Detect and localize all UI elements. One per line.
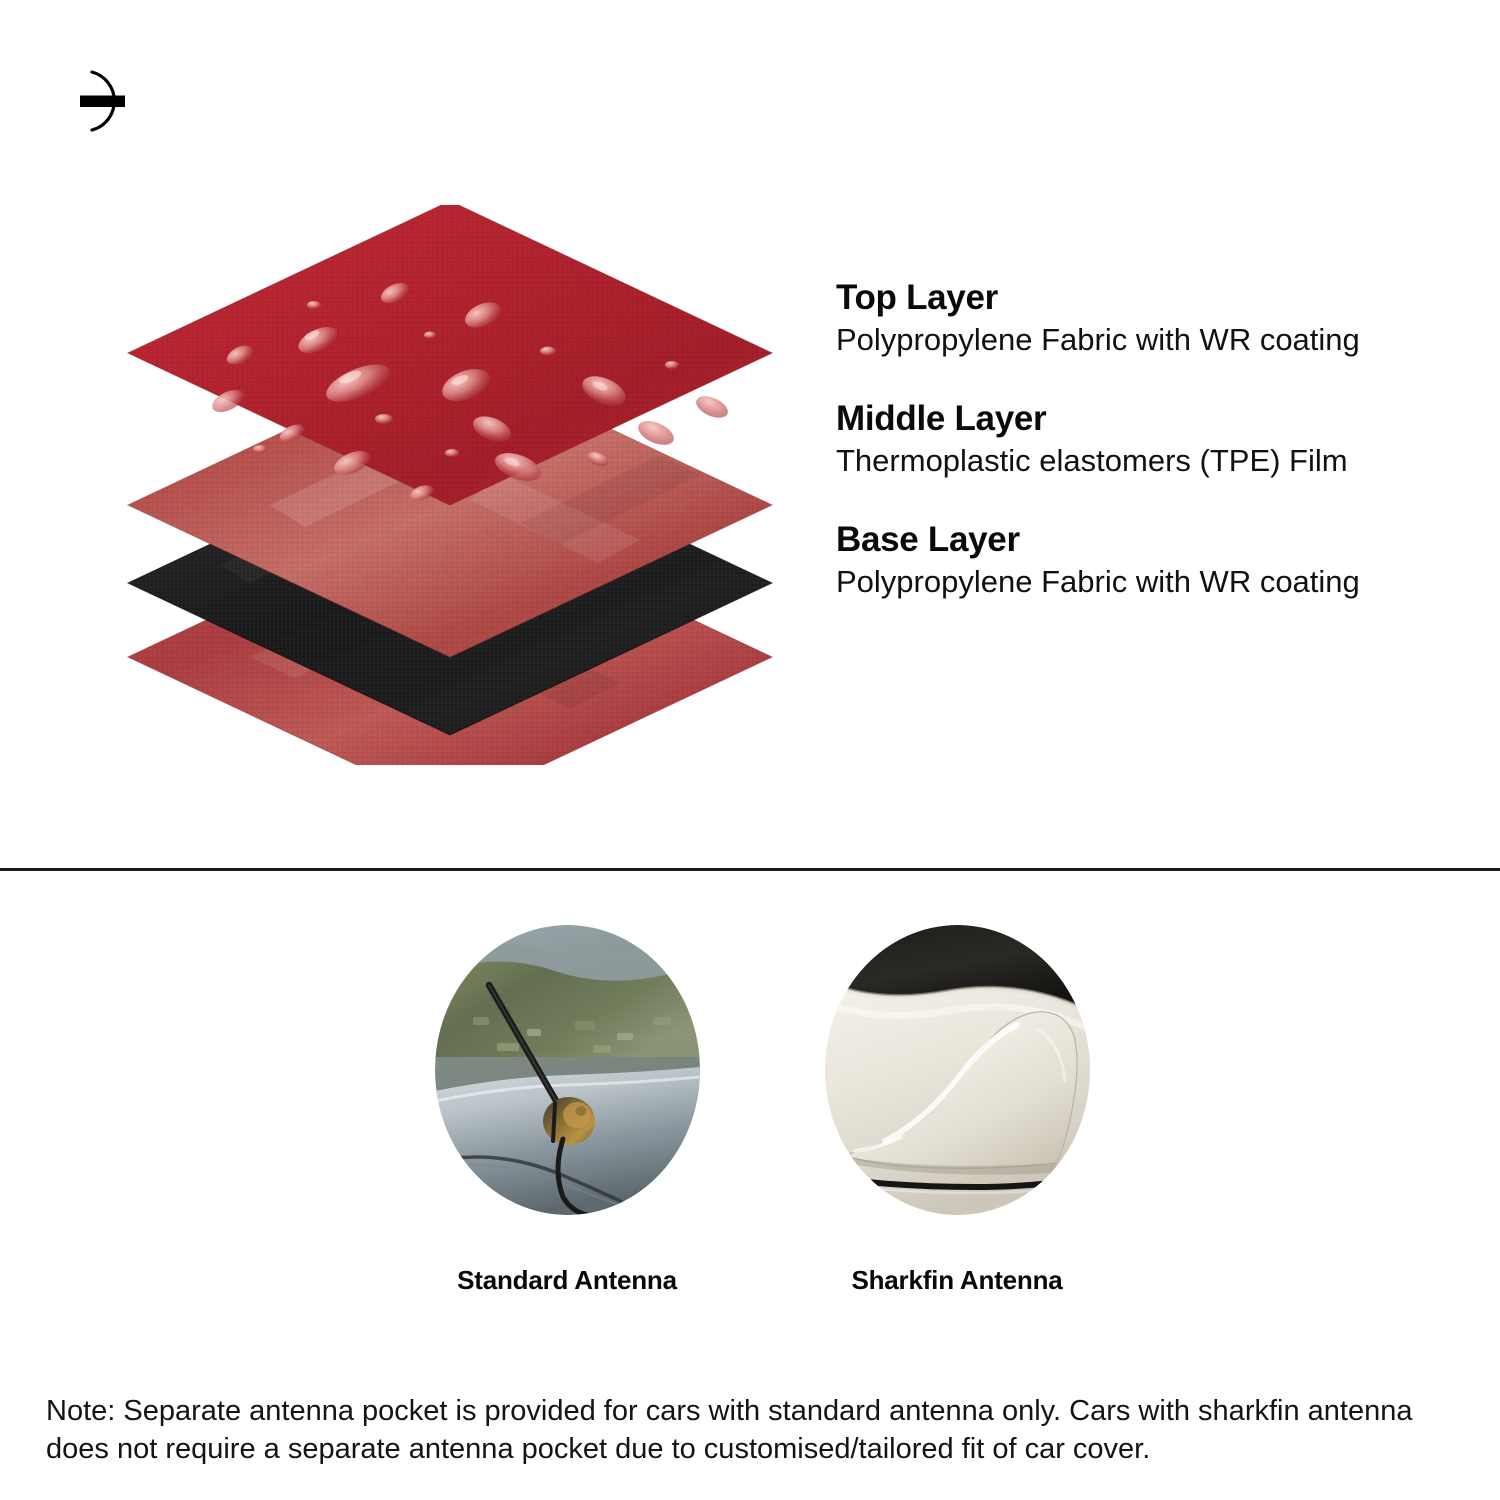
layer-spec-title: Top Layer — [836, 278, 1456, 317]
antenna-card-standard: Standard Antenna — [427, 925, 707, 1296]
layer-spec-middle: Middle Layer Thermoplastic elastomers (T… — [836, 399, 1456, 480]
layer-spec-title: Middle Layer — [836, 399, 1456, 438]
layer-spec-base: Base Layer Polypropylene Fabric with WR … — [836, 520, 1456, 601]
layer-spec-description: Polypropylene Fabric with WR coating — [836, 321, 1456, 359]
brand-logo — [72, 62, 150, 140]
antenna-card-sharkfin: Sharkfin Antenna — [817, 925, 1097, 1296]
layer-spec-description: Thermoplastic elastomers (TPE) Film — [836, 442, 1456, 480]
antenna-label: Sharkfin Antenna — [817, 1265, 1097, 1296]
product-info-page: Top Layer Polypropylene Fabric with WR c… — [0, 0, 1500, 1500]
layer-specs-list: Top Layer Polypropylene Fabric with WR c… — [836, 278, 1456, 601]
section-divider — [0, 868, 1500, 871]
sharkfin-antenna-photo — [825, 925, 1090, 1215]
layer-spec-title: Base Layer — [836, 520, 1456, 559]
exploded-fabric-layers-diagram — [100, 205, 800, 765]
antenna-comparison-section: Standard Antenna — [0, 925, 1500, 1296]
layer-spec-description: Polypropylene Fabric with WR coating — [836, 563, 1456, 601]
antenna-label: Standard Antenna — [427, 1265, 707, 1296]
standard-whip-antenna-photo — [435, 925, 700, 1215]
antenna-pocket-note: Note: Separate antenna pocket is provide… — [46, 1393, 1466, 1468]
layer-spec-top: Top Layer Polypropylene Fabric with WR c… — [836, 278, 1456, 359]
